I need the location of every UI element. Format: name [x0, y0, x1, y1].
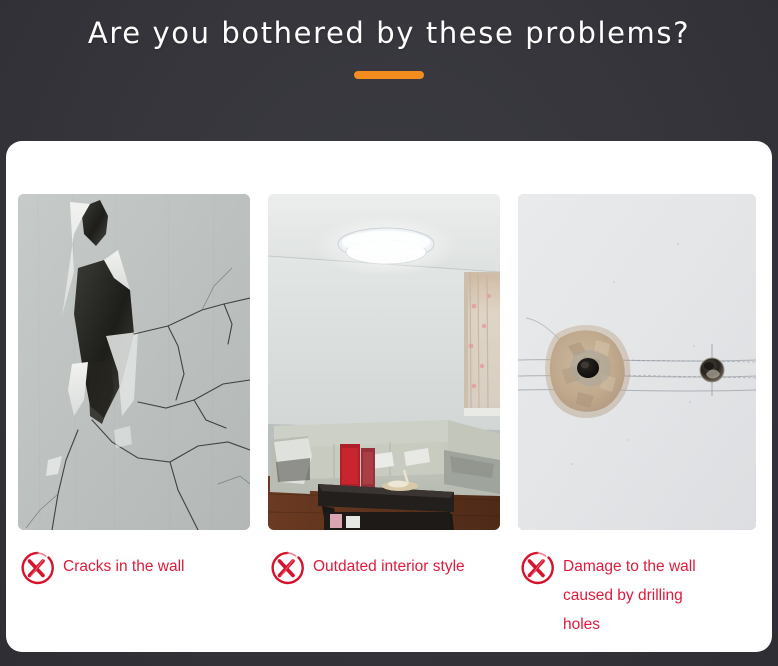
accent-divider-bar [354, 71, 424, 79]
problem-item-outdated: Outdated interior style [268, 194, 500, 639]
caption-cracks: Cracks in the wall [18, 549, 250, 586]
red-x-circle-icon [518, 550, 554, 586]
promo-page: Are you bothered by these problems? [0, 0, 778, 666]
problem-item-cracks: Cracks in the wall [18, 194, 250, 639]
page-header: Are you bothered by these problems? [0, 0, 778, 141]
caption-text: Damage to the wall caused by drilling ho… [563, 549, 696, 639]
red-x-circle-icon [268, 550, 304, 586]
cracked-wall-photo [18, 194, 250, 530]
caption-drilling: Damage to the wall caused by drilling ho… [518, 549, 756, 639]
caption-outdated: Outdated interior style [268, 549, 500, 586]
problems-grid: Cracks in the wall [18, 194, 760, 639]
living-room-photo [268, 194, 500, 530]
problem-item-drilling: Damage to the wall caused by drilling ho… [518, 194, 756, 639]
caption-text: Outdated interior style [313, 549, 465, 581]
red-x-circle-icon [18, 550, 54, 586]
caption-text: Cracks in the wall [63, 549, 184, 581]
page-title: Are you bothered by these problems? [0, 15, 778, 51]
problems-card: Cracks in the wall [6, 141, 772, 652]
drilled-hole-photo [518, 194, 756, 530]
